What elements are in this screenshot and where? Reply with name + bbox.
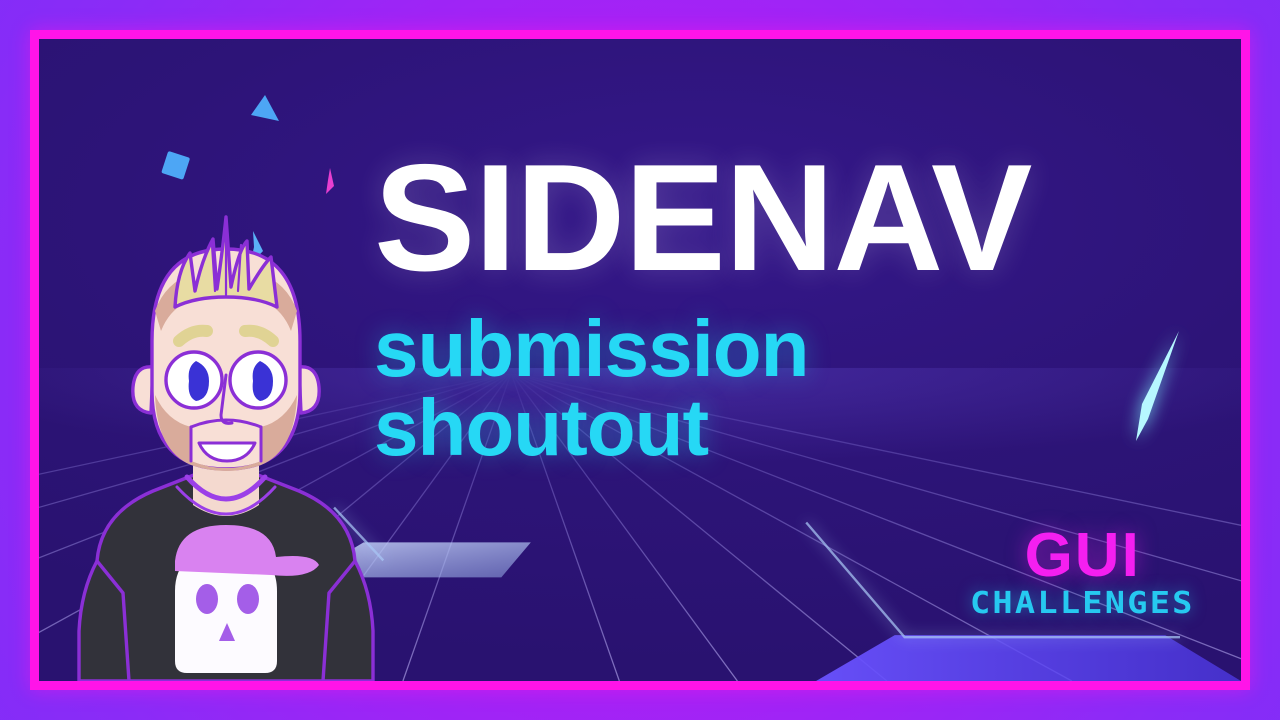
logo-primary-text: GUI bbox=[982, 525, 1183, 587]
neon-frame-border: SIDENAV submission shoutout GUI CHALLENG… bbox=[30, 30, 1250, 690]
title-block: SIDENAV submission shoutout bbox=[374, 144, 1204, 467]
avatar-ear-right bbox=[299, 367, 319, 413]
confetti-triangle-blue-top bbox=[245, 91, 285, 131]
grid-tile-bottom-right-glow bbox=[816, 635, 1241, 681]
thumbnail-canvas: SIDENAV submission shoutout GUI CHALLENG… bbox=[0, 0, 1280, 720]
logo-secondary-text: CHALLENGES bbox=[970, 589, 1195, 619]
thumbnail-inner-background: SIDENAV submission shoutout GUI CHALLENG… bbox=[39, 39, 1241, 681]
gui-challenges-logo: GUI CHALLENGES bbox=[982, 525, 1183, 619]
subtitle-line-2: shoutout bbox=[374, 388, 1204, 467]
shirt-skull-eye-left bbox=[196, 584, 218, 614]
avatar-character-illustration bbox=[57, 161, 387, 681]
page-subtitle: submission shoutout bbox=[374, 309, 1204, 467]
shirt-skull-eye-right bbox=[237, 584, 259, 614]
subtitle-line-1: submission bbox=[374, 309, 1204, 388]
avatar-ear-left bbox=[133, 367, 153, 413]
page-title: SIDENAV bbox=[374, 144, 1204, 293]
